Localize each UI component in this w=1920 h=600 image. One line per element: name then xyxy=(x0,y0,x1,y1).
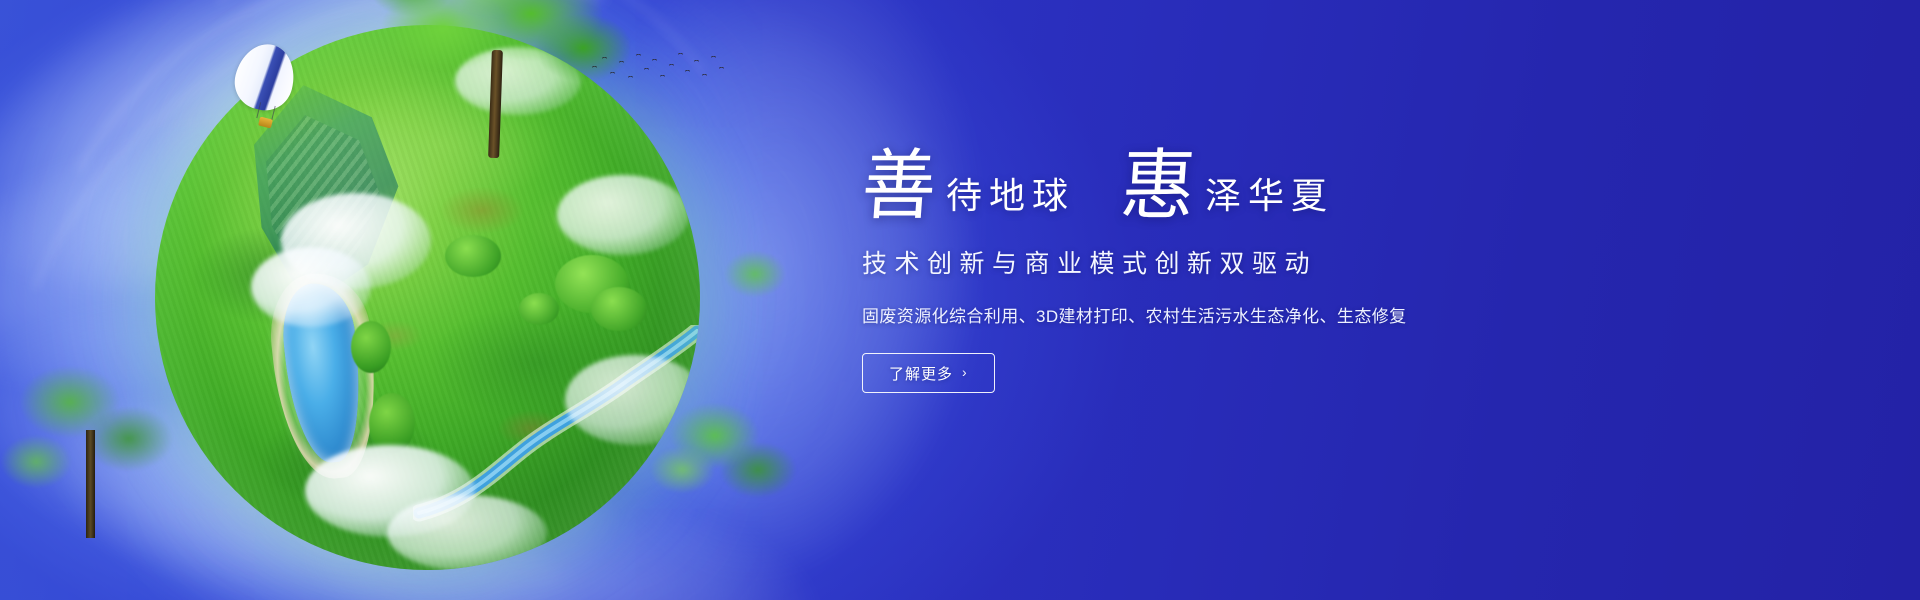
tree-canopy xyxy=(0,310,200,540)
tree-trunk xyxy=(86,430,95,538)
birds-flock xyxy=(588,48,728,98)
headline-rest-2: 泽华夏 xyxy=(1195,178,1334,220)
learn-more-button[interactable]: 了解更多 › xyxy=(862,353,995,393)
hero-banner: 善 待地球 惠 泽华夏 技术创新与商业模式创新双驱动 固废资源化综合利用、3D建… xyxy=(0,0,1920,600)
page-title: 善 待地球 惠 泽华夏 xyxy=(862,132,1582,220)
tree-cluster-right-upper xyxy=(700,214,810,334)
tree-canopy xyxy=(632,352,812,542)
tree-cluster-left xyxy=(0,310,200,540)
hot-air-balloon-icon xyxy=(236,44,294,134)
learn-more-label: 了解更多 xyxy=(889,363,953,384)
headline-rest-1: 待地球 xyxy=(936,178,1075,220)
headline-char-1: 善 xyxy=(859,149,938,226)
headline-char-2: 惠 xyxy=(1118,149,1197,226)
hero-description: 固废资源化综合利用、3D建材打印、农村生活污水生态净化、生态修复 xyxy=(862,302,1582,327)
chevron-right-icon: › xyxy=(962,365,968,379)
balloon-basket xyxy=(258,117,273,129)
hero-content: 善 待地球 惠 泽华夏 技术创新与商业模式创新双驱动 固废资源化综合利用、3D建… xyxy=(862,132,1582,393)
hero-subtitle: 技术创新与商业模式创新双驱动 xyxy=(862,244,1582,280)
tree-canopy xyxy=(700,214,810,334)
tree-cluster-right xyxy=(632,352,812,542)
